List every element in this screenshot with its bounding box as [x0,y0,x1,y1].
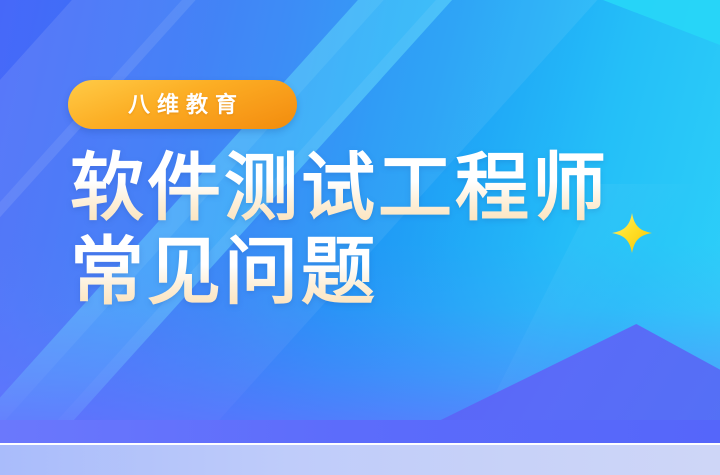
bottom-lavender-bar [0,445,720,475]
headline-line-2: 常见问题 [70,230,690,314]
sparkle-star-icon [611,212,653,254]
cyan-corner-wedge-icon [570,0,720,150]
promo-poster: 八维教育 软件测试工程师 常见问题 [0,0,720,475]
headline-block: 软件测试工程师 常见问题 [70,146,690,313]
bottom-violet-bar [0,420,720,444]
brand-badge: 八维教育 [68,80,297,129]
headline-line-1: 软件测试工程师 [70,146,690,230]
brand-badge-label: 八维教育 [121,94,244,116]
